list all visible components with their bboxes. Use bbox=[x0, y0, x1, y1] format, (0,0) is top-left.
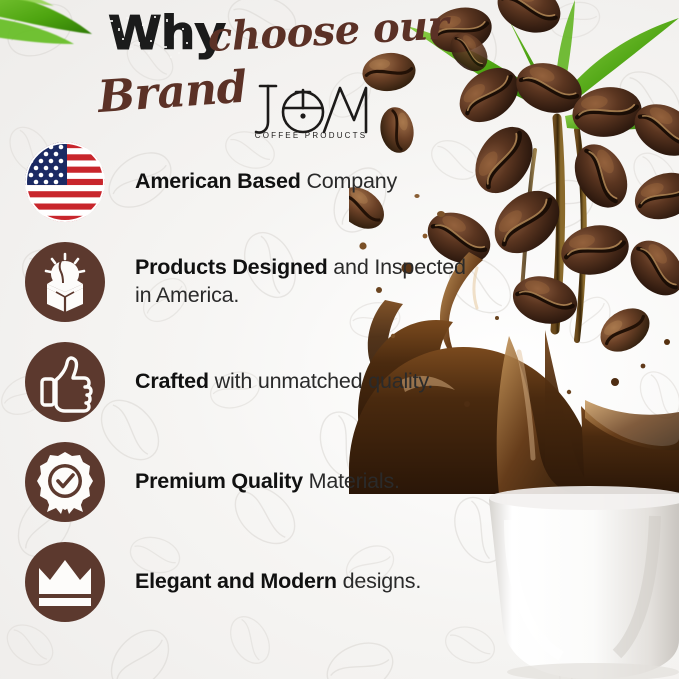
feature-row-elegant-modern: Elegant and Modern designs. bbox=[0, 532, 500, 632]
feature-list: American Based Company bbox=[0, 132, 500, 632]
heading-script-line-2: Brand bbox=[96, 66, 248, 120]
feature-label: Premium Quality Materials. bbox=[135, 468, 400, 496]
feature-label-bold: Crafted bbox=[135, 369, 209, 393]
feature-label: Products Designed and Inspected in Ameri… bbox=[135, 254, 485, 309]
crown-icon bbox=[25, 542, 105, 622]
feature-label-bold: Elegant and Modern bbox=[135, 569, 337, 593]
usa-flag-icon bbox=[25, 142, 105, 222]
feature-label-rest: Materials. bbox=[303, 469, 400, 493]
poster-canvas: Why choose our Brand bbox=[0, 0, 679, 679]
poster-heading: Why choose our Brand bbox=[0, 0, 470, 150]
feature-row-products-designed: Products Designed and Inspected in Ameri… bbox=[0, 232, 500, 332]
thumbs-up-icon bbox=[25, 342, 105, 422]
feature-label: Elegant and Modern designs. bbox=[135, 568, 421, 596]
lightbulb-box-icon bbox=[25, 242, 105, 322]
feature-label-rest: with unmatched quality. bbox=[209, 369, 433, 393]
feature-label: American Based Company bbox=[135, 168, 397, 196]
quality-badge-icon bbox=[25, 442, 105, 522]
feature-label-bold: Premium Quality bbox=[135, 469, 303, 493]
feature-label-bold: American Based bbox=[135, 169, 301, 193]
feature-row-premium-quality: Premium Quality Materials. bbox=[0, 432, 500, 532]
heading-script-line-1: choose our bbox=[207, 5, 449, 58]
feature-label-rest: Company bbox=[301, 169, 397, 193]
feature-label-rest: designs. bbox=[337, 569, 421, 593]
feature-label-bold: Products Designed bbox=[135, 255, 328, 279]
feature-row-american-based: American Based Company bbox=[0, 132, 500, 232]
feature-label: Crafted with unmatched quality. bbox=[135, 368, 433, 396]
feature-row-crafted: Crafted with unmatched quality. bbox=[0, 332, 500, 432]
